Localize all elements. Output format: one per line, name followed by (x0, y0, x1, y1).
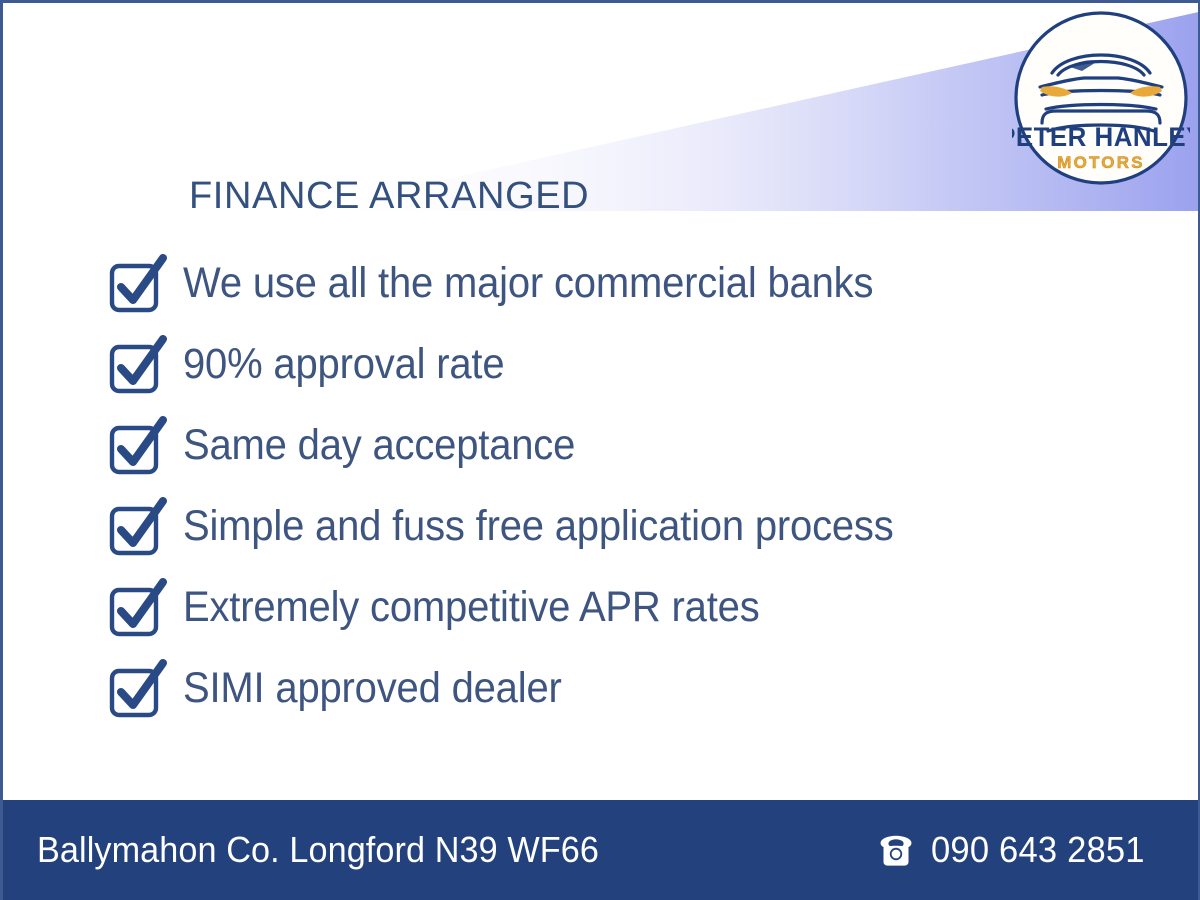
feature-label: SIMI approved dealer (183, 667, 562, 710)
finance-poster: PETER HANLEY MOTORS FINANCE ARRANGED We … (0, 0, 1200, 900)
footer-phone-group[interactable]: 090 643 2851 (877, 829, 1154, 871)
checkbox-checked-icon (107, 577, 169, 639)
telephone-icon (877, 831, 915, 869)
brand-logo: PETER HANLEY MOTORS (1012, 9, 1190, 187)
feature-label: Same day acceptance (183, 424, 575, 467)
feature-label: 90% approval rate (183, 343, 504, 386)
page-title: FINANCE ARRANGED (189, 175, 589, 218)
checkbox-checked-icon (107, 334, 169, 396)
checkbox-checked-icon (107, 496, 169, 558)
checkbox-checked-icon (107, 253, 169, 315)
feature-label: Extremely competitive APR rates (183, 586, 760, 629)
list-item: 90% approval rate (107, 324, 1107, 405)
footer-contact-bar: Ballymahon Co. Longford N39 WF66 090 643… (3, 800, 1198, 900)
feature-label: We use all the major commercial banks (183, 262, 873, 305)
feature-label: Simple and fuss free application process (183, 505, 894, 548)
checkbox-checked-icon (107, 658, 169, 720)
feature-list: We use all the major commercial banks 90… (107, 243, 1107, 729)
logo-sub-text: MOTORS (1057, 153, 1145, 172)
list-item: Same day acceptance (107, 405, 1107, 486)
logo-brand-text: PETER HANLEY (1012, 122, 1190, 153)
footer-address: Ballymahon Co. Longford N39 WF66 (37, 829, 599, 871)
list-item: Extremely competitive APR rates (107, 567, 1107, 648)
checkbox-checked-icon (107, 415, 169, 477)
list-item: We use all the major commercial banks (107, 243, 1107, 324)
footer-phone-number[interactable]: 090 643 2851 (931, 829, 1145, 871)
list-item: SIMI approved dealer (107, 648, 1107, 729)
list-item: Simple and fuss free application process (107, 486, 1107, 567)
